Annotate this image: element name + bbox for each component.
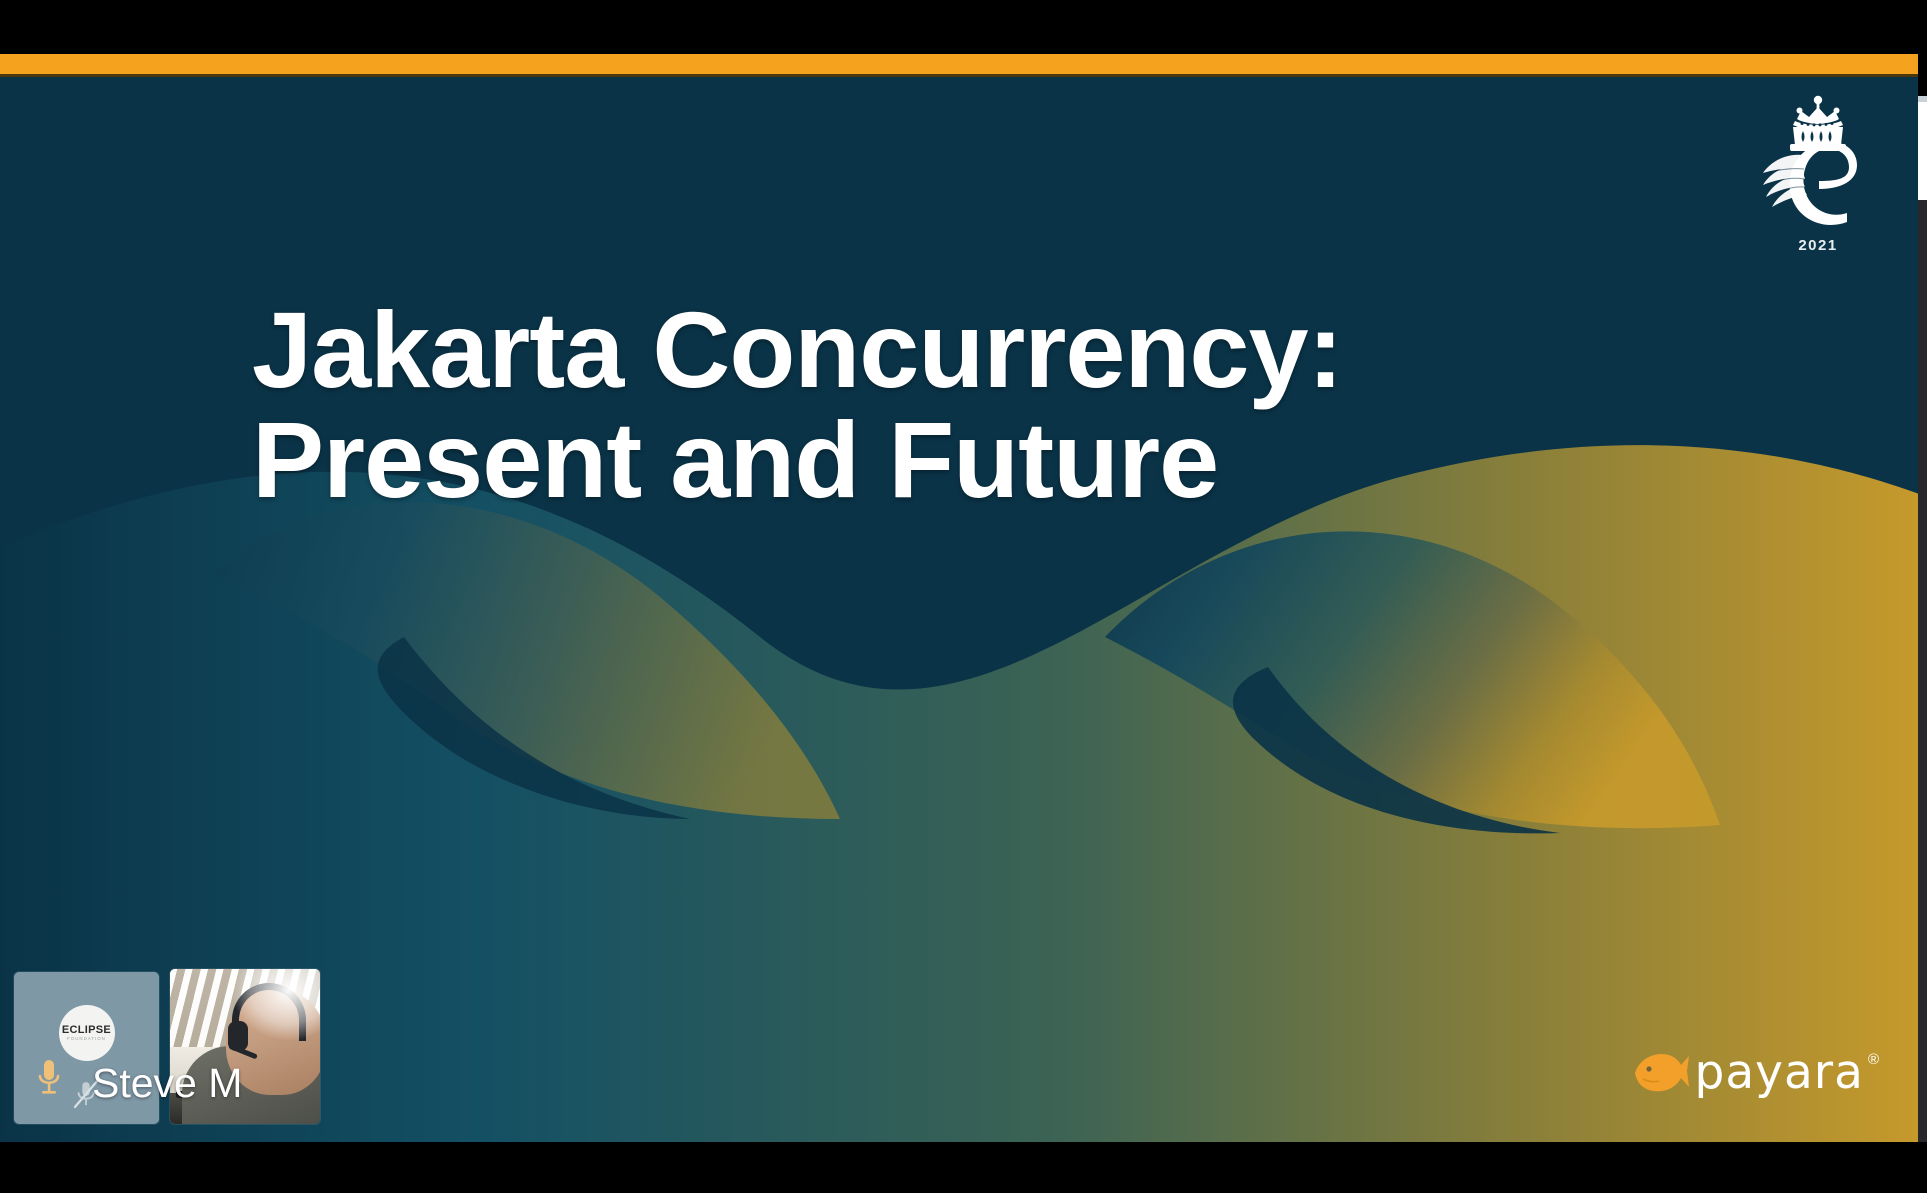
fish-icon [1629, 1047, 1691, 1099]
payara-logo: payara ® [1629, 1045, 1879, 1100]
queens-award-for-enterprise-logo: 2021 [1757, 89, 1879, 264]
crown-and-e-emblem-icon [1757, 89, 1879, 241]
eclipse-wordmark: ECLIPSE [62, 1025, 111, 1036]
avatar: ECLIPSE FOUNDATION [59, 1005, 115, 1061]
participant-video-strip: ECLIPSE FOUNDATION [14, 969, 320, 1124]
right-panel-sliver[interactable] [1918, 100, 1927, 200]
slide-accent-bar [0, 54, 1927, 74]
participant-name-label: Steve M [92, 1063, 242, 1104]
webcam-window-glow [233, 969, 320, 1040]
slide-title: Jakarta Concurrency: Present and Future [252, 295, 1552, 515]
payara-wordmark: payara [1695, 1045, 1864, 1100]
right-edge-black-gutter [1918, 0, 1927, 96]
eclipse-foundation-subtext: FOUNDATION [67, 1037, 106, 1041]
screen-share-frame: Jakarta Concurrency: Present and Future [0, 0, 1927, 1193]
right-panel-sliver-shade [1918, 96, 1927, 102]
award-year-label: 2021 [1757, 237, 1879, 254]
right-edge-dark-gutter [1918, 200, 1927, 1142]
microphone-icon[interactable] [36, 1058, 62, 1098]
presentation-slide: Jakarta Concurrency: Present and Future [0, 77, 1927, 1142]
payara-trademark-symbol: ® [1868, 1051, 1879, 1068]
